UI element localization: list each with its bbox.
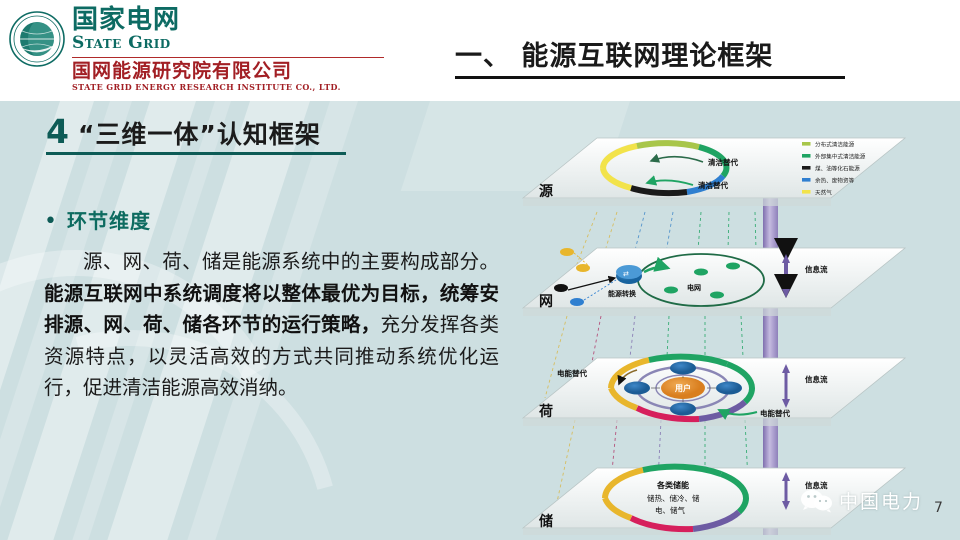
section-underline	[46, 152, 346, 155]
institute-name-en: STATE GRID ENERGY RESEARCH INSTITUTE CO.…	[72, 83, 402, 93]
layer-label-load: 荷	[538, 403, 553, 420]
brand-block: 国家电网 State Grid 国网能源研究院有限公司 STATE GRID E…	[72, 6, 402, 92]
label-power-grid: 电网	[687, 283, 701, 292]
label-clean-substitution-upper: 清洁替代	[708, 157, 738, 167]
legend-label-2: 煤、油等化石能源	[815, 165, 860, 173]
label-info-flow-1: 信息流	[805, 264, 828, 274]
wechat-icon	[800, 489, 834, 513]
label-electric-substitution-right: 电能替代	[760, 408, 790, 418]
watermark-text: 中国电力	[839, 487, 923, 514]
section-heading: 4 “三维一体”认知框架	[46, 112, 321, 151]
brand-divider	[72, 57, 384, 59]
body-paragraph: 源、网、荷、储是能源系统中的主要构成部分。能源互联网中系统调度将以整体最优为目标…	[44, 246, 499, 404]
institute-name-cn: 国网能源研究院有限公司	[72, 61, 402, 82]
legend-label-3: 余热、废物资等	[815, 177, 855, 185]
diagram-layer-load: 用户 电能替代 电能替代 荷 信息流	[523, 357, 905, 426]
content-column: • 环节维度 源、网、荷、储是能源系统中的主要构成部分。能源互联网中系统调度将以…	[44, 205, 499, 404]
load-node	[716, 382, 742, 395]
section-title: “三维一体”认知框架	[78, 115, 321, 151]
diagram-layer-network: 电网 ⇄ 能源转换 网 信息流	[523, 248, 905, 316]
label-energy-conversion: 能源转换	[608, 289, 637, 298]
legend-label-4: 天然气	[815, 189, 832, 197]
page-number: 7	[934, 500, 943, 516]
label-clean-substitution-lower: 清洁替代	[698, 180, 728, 190]
state-grid-globe-logo	[8, 10, 66, 68]
wechat-watermark: 中国电力	[800, 487, 923, 514]
section-number: 4	[46, 112, 69, 151]
label-storage-detail-1: 储热、储冷、储	[647, 493, 700, 503]
brand-name-cn: 国家电网	[72, 6, 402, 34]
load-node	[670, 362, 696, 375]
bullet-label: 环节维度	[67, 205, 151, 234]
title-underline	[455, 76, 845, 79]
diagram-layer-source: 清洁替代 清洁替代 源 分布式清洁能源 外部集中式清洁能源 煤、油等化石能源 余…	[523, 138, 905, 206]
layer-label-source: 源	[539, 183, 553, 200]
page-title: 一、 能源互联网理论框架	[455, 34, 925, 73]
layer-label-network: 网	[539, 294, 553, 310]
legend-label-1: 外部集中式清洁能源	[815, 153, 866, 161]
bullet-heading: • 环节维度	[44, 205, 499, 234]
label-electric-substitution-left: 电能替代	[557, 368, 587, 378]
load-node	[624, 382, 650, 395]
label-storage-detail-2: 电、储气	[655, 505, 685, 515]
para-plain-1: 源、网、荷、储是能源系统中的主要构成部分。	[83, 250, 499, 273]
svg-text:⇄: ⇄	[623, 270, 629, 278]
label-user: 用户	[674, 383, 691, 393]
bullet-marker: •	[44, 211, 57, 233]
slide-header: 国家电网 State Grid 国网能源研究院有限公司 STATE GRID E…	[0, 0, 960, 101]
load-node	[670, 403, 696, 416]
legend-label-0: 分布式清洁能源	[815, 141, 855, 149]
layer-label-storage: 储	[538, 513, 553, 530]
label-info-flow-2: 信息流	[805, 374, 828, 384]
brand-name-en: State Grid	[72, 34, 402, 53]
label-storage-title: 各类储能	[656, 480, 689, 490]
three-dimension-framework-diagram: 清洁替代 清洁替代 源 分布式清洁能源 外部集中式清洁能源 煤、油等化石能源 余…	[505, 120, 960, 535]
